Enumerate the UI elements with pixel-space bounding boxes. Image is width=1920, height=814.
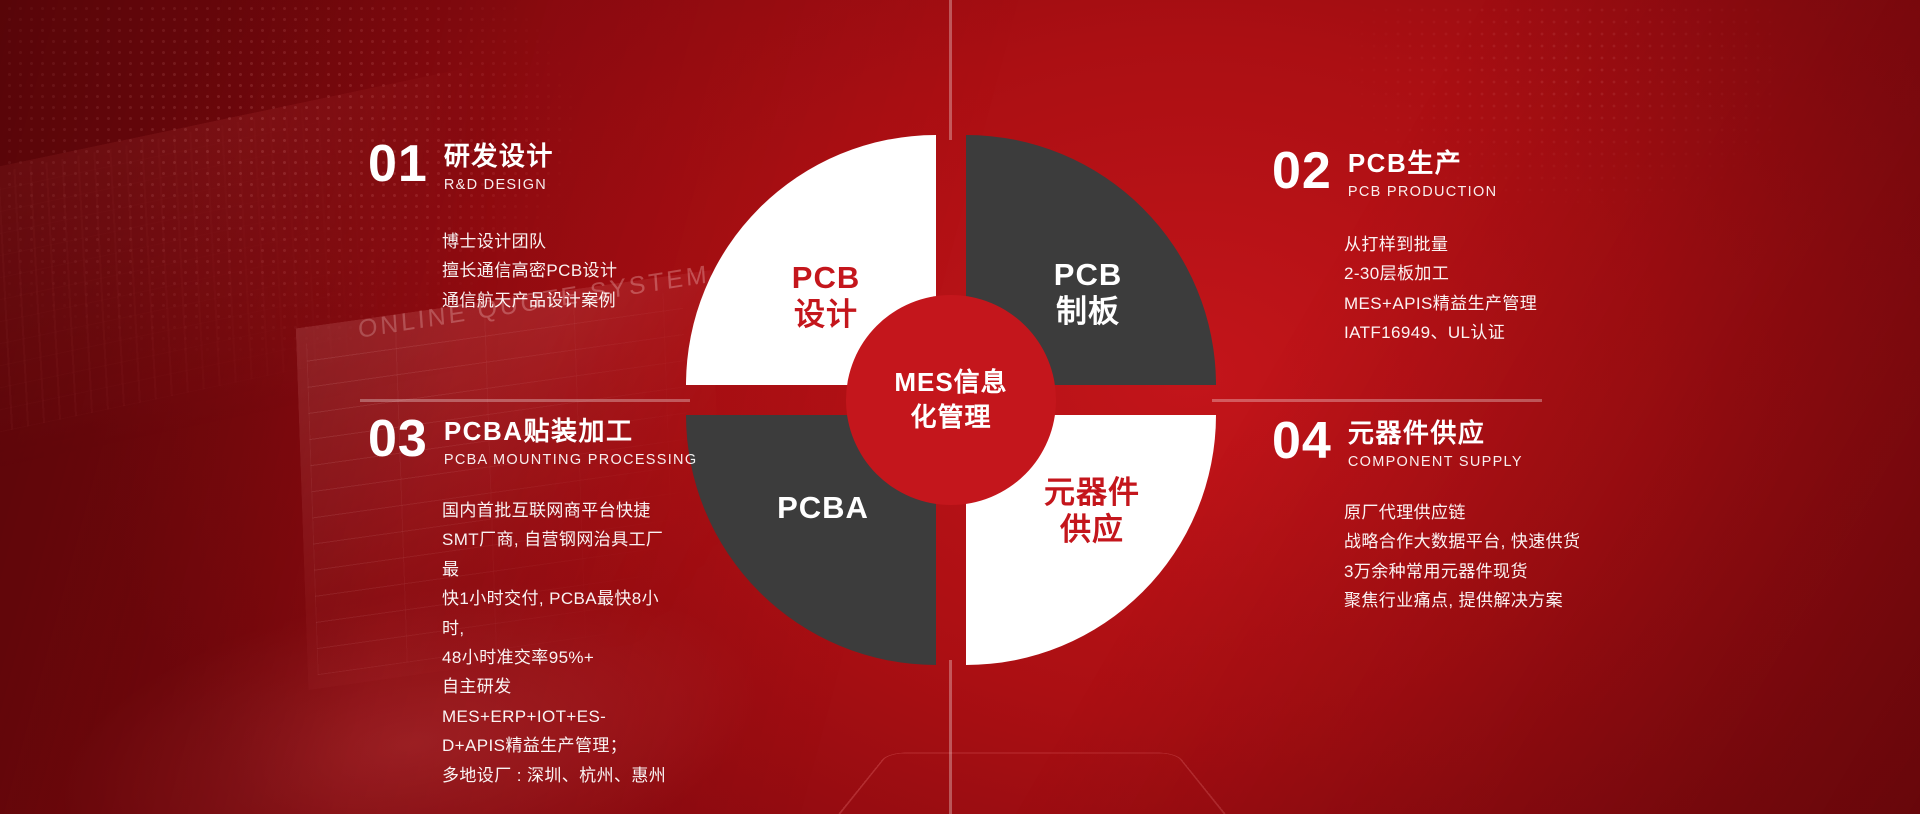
connector-line-bottom (949, 660, 952, 814)
connector-line-right (1212, 399, 1542, 402)
section-04-title-en: COMPONENT SUPPLY (1348, 454, 1523, 470)
donut-label-component-supply: 元器件 供应 (1012, 475, 1172, 548)
section-02-pcb-production: 02 PCB生产 PCB PRODUCTION 从打样到批量 2-30层板加工 … (1272, 147, 1537, 348)
section-02-title-en: PCB PRODUCTION (1348, 184, 1498, 200)
connector-line-left (360, 399, 690, 402)
section-01-body: 博士设计团队 擅长通信高密PCB设计 通信航天产品设计案例 (442, 227, 617, 315)
section-03-title-cn: PCBA贴装加工 (444, 417, 698, 447)
section-04-title-cn: 元器件供应 (1348, 419, 1523, 449)
section-01-title-cn: 研发设计 (444, 142, 554, 172)
section-01-title-en: R&D DESIGN (444, 177, 554, 193)
section-04-body: 原厂代理供应链 战略合作大数据平台, 快速供货 3万余种常用元器件现货 聚焦行业… (1344, 498, 1580, 616)
section-02-header: 02 PCB生产 PCB PRODUCTION (1272, 147, 1537, 200)
section-01-rd-design: 01 研发设计 R&D DESIGN 博士设计团队 擅长通信高密PCB设计 通信… (368, 140, 617, 315)
process-donut-chart: PCB 设计 PCB 制板 PCBA 元器件 供应 MES信息 化管理 (686, 135, 1216, 665)
section-03-pcba-mounting: 03 PCBA贴装加工 PCBA MOUNTING PROCESSING 国内首… (368, 415, 697, 790)
donut-label-pcba: PCBA (738, 490, 908, 527)
section-03-number: 03 (368, 415, 428, 464)
section-03-body: 国内首批互联网商平台快捷 SMT厂商, 自营钢网治具工厂最 快1小时交付, PC… (442, 496, 674, 790)
section-03-header: 03 PCBA贴装加工 PCBA MOUNTING PROCESSING (368, 415, 697, 468)
donut-label-pcb-fabrication: PCB 制板 (1008, 257, 1168, 330)
donut-center-hub: MES信息 化管理 (846, 295, 1056, 505)
section-01-number: 01 (368, 140, 428, 189)
section-03-title-en: PCBA MOUNTING PROCESSING (444, 452, 698, 468)
section-02-title-cn: PCB生产 (1348, 149, 1498, 179)
section-02-body: 从打样到批量 2-30层板加工 MES+APIS精益生产管理 IATF16949… (1344, 230, 1537, 348)
section-04-number: 04 (1272, 417, 1332, 466)
connector-line-top (949, 0, 952, 140)
section-04-component-supply: 04 元器件供应 COMPONENT SUPPLY 原厂代理供应链 战略合作大数… (1272, 417, 1580, 616)
section-01-header: 01 研发设计 R&D DESIGN (368, 140, 617, 193)
section-02-number: 02 (1272, 147, 1332, 196)
section-04-header: 04 元器件供应 COMPONENT SUPPLY (1272, 417, 1580, 470)
